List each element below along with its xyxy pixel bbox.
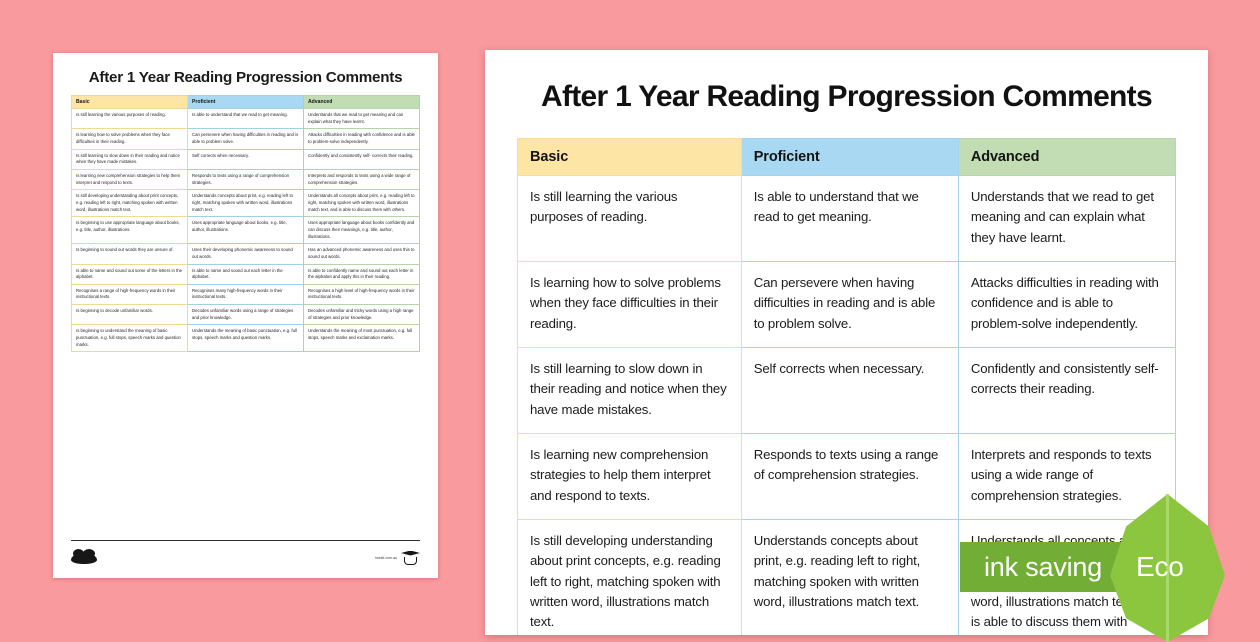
header-proficient: Proficient xyxy=(741,139,958,176)
thumbnail-footer-url: twinkl.com.au xyxy=(375,556,397,560)
cell-advanced: Interprets and responds to texts using a… xyxy=(958,433,1175,519)
cell-advanced: Understands the meaning of most punctuat… xyxy=(304,325,420,352)
thumbnail-header-basic: Basic xyxy=(72,96,188,109)
graduation-cap-icon xyxy=(401,550,420,567)
cell-basic: Is still learning to slow down in their … xyxy=(72,149,188,169)
cell-proficient: Is able to understand that we read to ge… xyxy=(188,109,304,129)
cell-advanced: Interprets and responds to texts using a… xyxy=(304,169,420,189)
cell-advanced: Has an advanced phonemic awareness and u… xyxy=(304,244,420,264)
page-title: After 1 Year Reading Progression Comment… xyxy=(517,80,1176,114)
thumbnail-footer-right: twinkl.com.au xyxy=(375,550,420,567)
document-thumbnail-page[interactable]: After 1 Year Reading Progression Comment… xyxy=(53,53,438,578)
cell-proficient: Recognises many high-frequency words in … xyxy=(188,284,304,304)
thumbnail-table-row: Is beginning to use appropriate language… xyxy=(72,217,420,244)
cell-advanced: Recognises a high level of high-frequenc… xyxy=(304,284,420,304)
thumbnail-table-row: Is beginning to sound out words they are… xyxy=(72,244,420,264)
table-row: Is learning new comprehension strategies… xyxy=(518,433,1176,519)
cell-basic: Is beginning to sound out words they are… xyxy=(72,244,188,264)
thumbnail-table-row: Is still learning the various purposes o… xyxy=(72,109,420,129)
cell-proficient: Understands concepts about print, e.g. r… xyxy=(741,519,958,635)
cell-basic: Is still developing understanding about … xyxy=(72,190,188,217)
cell-basic: Is able to name and sound out some of th… xyxy=(72,264,188,284)
cell-basic: Is beginning to decode unfamiliar words. xyxy=(72,305,188,325)
cell-proficient: Responds to texts using a range of compr… xyxy=(741,433,958,519)
cell-advanced: Is able to confidently name and sound ou… xyxy=(304,264,420,284)
cell-basic: Is beginning to understand the meaning o… xyxy=(72,325,188,352)
thumbnail-footer: twinkl.com.au xyxy=(71,540,420,570)
cell-proficient: Is able to understand that we read to ge… xyxy=(741,176,958,262)
thumbnail-header-proficient: Proficient xyxy=(188,96,304,109)
thumbnail-table-row: Is beginning to understand the meaning o… xyxy=(72,325,420,352)
thumbnail-header-advanced: Advanced xyxy=(304,96,420,109)
graduation-cap-body-shape xyxy=(404,557,417,565)
eco-badge-ink-label: ink saving xyxy=(984,554,1102,581)
cell-advanced: Confidently and consistently self- corre… xyxy=(958,347,1175,433)
thumbnail-table-row: Is learning how to solve problems when t… xyxy=(72,129,420,149)
ink-saving-eco-badge: ink saving Eco xyxy=(960,534,1260,598)
cell-basic: Recognises a range of high-frequency wor… xyxy=(72,284,188,304)
cell-proficient: Decodes unfamiliar words using a range o… xyxy=(188,305,304,325)
thumbnail-page-title: After 1 Year Reading Progression Comment… xyxy=(71,69,420,86)
cell-advanced: Confidently and consistently self- corre… xyxy=(304,149,420,169)
cell-proficient: Responds to texts using a range of compr… xyxy=(188,169,304,189)
thumbnail-table-row: Is learning new comprehension strategies… xyxy=(72,169,420,189)
cell-advanced: Attacks difficulties in reading with con… xyxy=(958,261,1175,347)
graduation-cap-top-shape xyxy=(401,551,420,557)
cell-basic: Is learning how to solve problems when t… xyxy=(518,261,742,347)
cell-advanced: Understands all concepts about print, e.… xyxy=(304,190,420,217)
cell-proficient: Understands the meaning of basic punctua… xyxy=(188,325,304,352)
thumbnail-table-header-row: Basic Proficient Advanced xyxy=(72,96,420,109)
cell-basic: Is learning how to solve problems when t… xyxy=(72,129,188,149)
cell-proficient: Is able to name and sound out each lette… xyxy=(188,264,304,284)
cell-basic: Is beginning to use appropriate language… xyxy=(72,217,188,244)
table-header-row: Basic Proficient Advanced xyxy=(518,139,1176,176)
cell-basic: Is still learning the various purposes o… xyxy=(518,176,742,262)
cell-basic: Is learning new comprehension strategies… xyxy=(72,169,188,189)
cell-basic: Is learning new comprehension strategies… xyxy=(518,433,742,519)
thumbnail-table-row: Is beginning to decode unfamiliar words.… xyxy=(72,305,420,325)
thumbnail-table-row: Recognises a range of high-frequency wor… xyxy=(72,284,420,304)
cell-proficient: Can persevere when having difficulties i… xyxy=(188,129,304,149)
eco-badge-eco-label: Eco xyxy=(1136,553,1184,581)
cell-proficient: Understands concepts about print, e.g. r… xyxy=(188,190,304,217)
cell-proficient: Can persevere when having difficulties i… xyxy=(741,261,958,347)
cell-proficient: Self corrects when necessary. xyxy=(741,347,958,433)
cell-basic: Is still developing understanding about … xyxy=(518,519,742,635)
cell-advanced: Understands that we read to get meaning … xyxy=(304,109,420,129)
cell-advanced: Attacks difficulties in reading with con… xyxy=(304,129,420,149)
cell-proficient: Self corrects when necessary. xyxy=(188,149,304,169)
header-advanced: Advanced xyxy=(958,139,1175,176)
table-row: Is learning how to solve problems when t… xyxy=(518,261,1176,347)
thumbnail-progression-table: Basic Proficient Advanced Is still learn… xyxy=(71,95,420,352)
cell-advanced: Decodes unfamiliar and tricky words usin… xyxy=(304,305,420,325)
thumbnail-table-row: Is able to name and sound out some of th… xyxy=(72,264,420,284)
cell-basic: Is still learning the various purposes o… xyxy=(72,109,188,129)
table-row: Is still learning the various purposes o… xyxy=(518,176,1176,262)
cell-proficient: Uses appropriate language about books, e… xyxy=(188,217,304,244)
cell-advanced: Understands that we read to get meaning … xyxy=(958,176,1175,262)
cell-advanced: Uses appropriate language about books co… xyxy=(304,217,420,244)
thumbnail-table-row: Is still developing understanding about … xyxy=(72,190,420,217)
twinkl-cloud-logo-icon xyxy=(71,553,97,564)
table-row: Is still learning to slow down in their … xyxy=(518,347,1176,433)
cell-basic: Is still learning to slow down in their … xyxy=(518,347,742,433)
header-basic: Basic xyxy=(518,139,742,176)
cell-proficient: Uses their developing phonemic awareness… xyxy=(188,244,304,264)
thumbnail-table-row: Is still learning to slow down in their … xyxy=(72,149,420,169)
